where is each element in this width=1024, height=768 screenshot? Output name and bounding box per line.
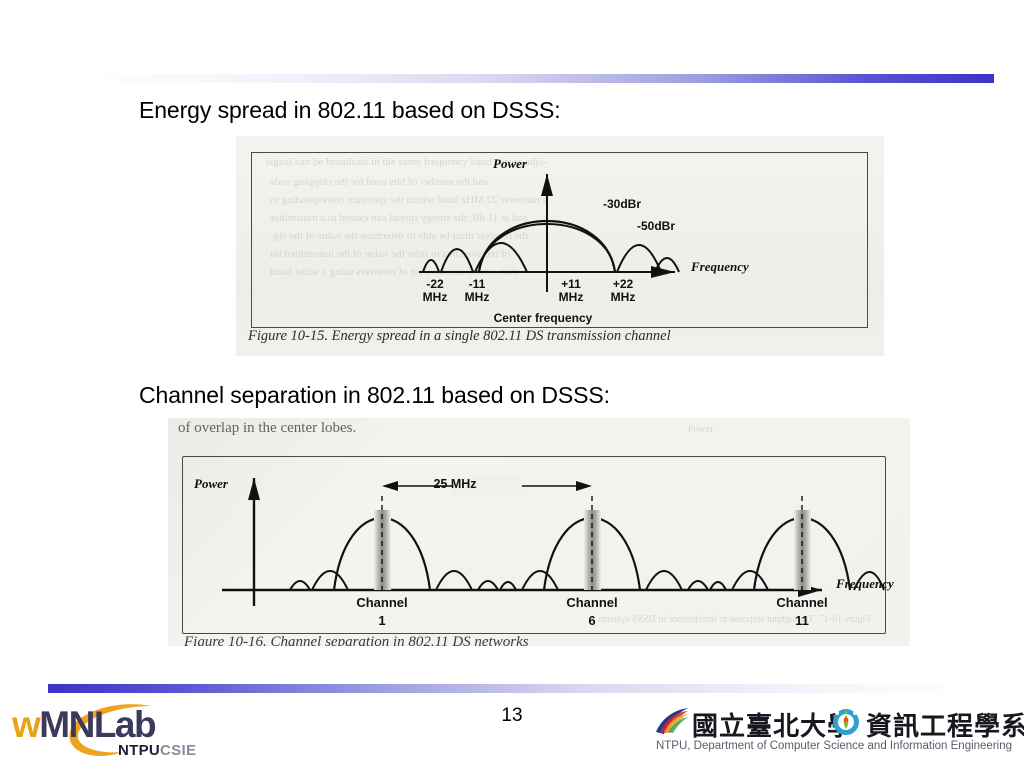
channel-1-number: 1	[342, 614, 422, 628]
wmnlab-subtitle: NTPUCSIE	[118, 742, 196, 759]
annotation--30dbr: -30dBr	[592, 198, 652, 211]
wmnlab-w: w	[12, 704, 39, 745]
figure-channel-separation: of overlap in the center lobes. Power Fi…	[168, 418, 910, 646]
ntpu-english-name: NTPU, Department of Computer Science and…	[648, 740, 1020, 752]
x-tick-+22mhz: +22MHz	[599, 278, 647, 304]
wmnlab-csie: CSIE	[160, 742, 196, 759]
separation-label-25mhz: 25 MHz	[420, 478, 490, 492]
x-axis-label-frequency: Frequency	[691, 259, 749, 275]
figure-one-caption: Figure 10-15. Energy spread in a single …	[248, 328, 671, 345]
ntpu-bird-icon	[652, 706, 690, 736]
center-frequency-label: Center frequency	[478, 312, 608, 325]
ghost-text-line: Power	[688, 424, 714, 435]
ghost-text-line: of overlap in the center lobes.	[178, 420, 356, 437]
x-tick--11mhz: -11MHz	[453, 278, 501, 304]
wmnlab-ntpu: NTPU	[118, 742, 160, 759]
annotation--50dbr: -50dBr	[626, 220, 686, 233]
x-tick--22mhz: -22MHz	[411, 278, 459, 304]
channel-6-number: 6	[552, 614, 632, 628]
figure-energy-spread: signal can be broadcast in the same freq…	[236, 136, 884, 356]
ntpu-department-name: 資訊工程學系	[866, 706, 1024, 743]
x-axis-label-frequency: Frequency	[836, 576, 894, 592]
channel-1-label: Channel	[342, 596, 422, 610]
csie-emblem-icon	[830, 705, 862, 737]
wmnlab-wordmark: wMNLab	[12, 704, 155, 746]
page-title-energy-spread: Energy spread in 802.11 based on DSSS:	[139, 98, 561, 123]
channel-11-number: 11	[762, 614, 842, 628]
figure-two-caption: Figure 10-16. Channel separation in 802.…	[184, 634, 529, 646]
wmnlab-mn: MN	[39, 704, 94, 745]
top-accent-bar	[82, 74, 994, 83]
wmnlab-logo: wMNLab NTPUCSIE	[8, 700, 223, 764]
channel-6-label: Channel	[552, 596, 632, 610]
channel-11-label: Channel	[762, 596, 842, 610]
wmnlab-lab: Lab	[94, 704, 155, 745]
page-title-channel-separation: Channel separation in 802.11 based on DS…	[139, 383, 610, 408]
bottom-accent-bar	[48, 684, 970, 693]
y-axis-label-power: Power	[194, 476, 228, 492]
y-axis-label-power: Power	[493, 156, 527, 172]
ntpu-logo-group: 國立臺北大學 資訊工程學系 NTPU, Department of Comput…	[648, 702, 1020, 764]
x-tick-+11mhz: +11MHz	[547, 278, 595, 304]
